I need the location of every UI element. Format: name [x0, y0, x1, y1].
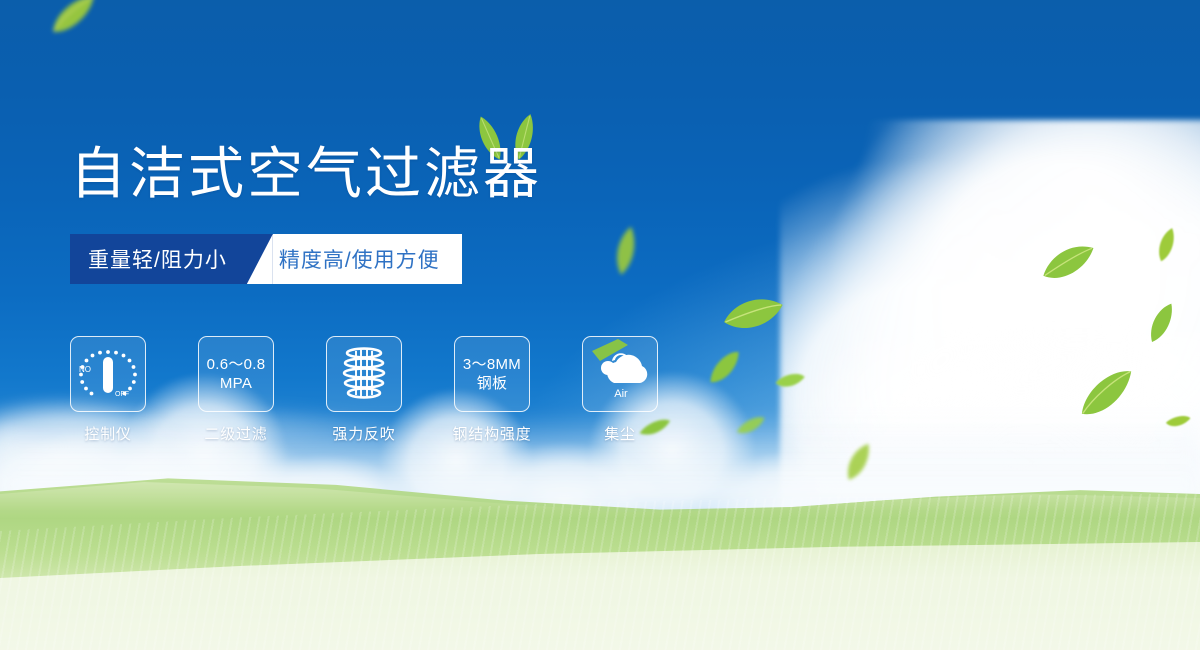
feature-icon-box: 0.6～0.8 MPA	[198, 336, 274, 412]
filter-coil-icon	[336, 345, 392, 403]
feature-item-steel-strength[interactable]: 3～8MM 钢板 钢结构强度	[454, 336, 530, 444]
feature-item-secondary-filter[interactable]: 0.6～0.8 MPA 二级过滤	[198, 336, 274, 444]
feature-icon-box: 3～8MM 钢板	[454, 336, 530, 412]
feature-label: 二级过滤	[204, 423, 267, 444]
feature-icon-box	[326, 336, 402, 412]
feature-icon-box: Air	[582, 336, 658, 412]
feature-list: NO OFF 控制仪 0.6～0.8 MPA 二级过滤	[70, 336, 658, 444]
gauge-icon: NO OFF	[75, 344, 141, 404]
feature-label: 钢结构强度	[453, 423, 532, 444]
air-cloud-icon: Air	[584, 336, 658, 409]
steel-line-2: 钢板	[463, 374, 521, 393]
tagline-right: 精度高/使用方便	[273, 234, 462, 284]
pressure-text-icon: 0.6～0.8 MPA	[207, 355, 266, 393]
banner-content: 自洁式空气过滤器 重量轻/阻力小 精度高/使用方便	[0, 0, 1200, 650]
pressure-line-2: MPA	[207, 374, 266, 393]
feature-label: 集尘	[604, 423, 636, 444]
pressure-line-1: 0.6～0.8	[207, 355, 266, 374]
tagline-left: 重量轻/阻力小	[70, 234, 247, 284]
steel-plate-text-icon: 3～8MM 钢板	[463, 355, 521, 393]
feature-item-backblow[interactable]: 强力反吹	[326, 336, 402, 444]
tagline-group: 重量轻/阻力小 精度高/使用方便	[70, 234, 462, 284]
gauge-off-label: OFF	[115, 391, 129, 398]
feature-label: 强力反吹	[332, 423, 395, 444]
gauge-on-label: NO	[79, 365, 91, 374]
feature-icon-box: NO OFF	[70, 336, 146, 412]
feature-item-controller[interactable]: NO OFF 控制仪	[70, 336, 146, 444]
page-title: 自洁式空气过滤器	[70, 146, 542, 202]
steel-line-1: 3～8MM	[463, 355, 521, 374]
feature-label: 控制仪	[84, 423, 131, 444]
product-hero-banner: 自洁式空气过滤器 重量轻/阻力小 精度高/使用方便	[0, 0, 1200, 650]
tagline-slant-divider	[247, 234, 273, 284]
feature-item-dust-collection[interactable]: Air 集尘	[582, 336, 658, 444]
air-label: Air	[614, 388, 628, 400]
